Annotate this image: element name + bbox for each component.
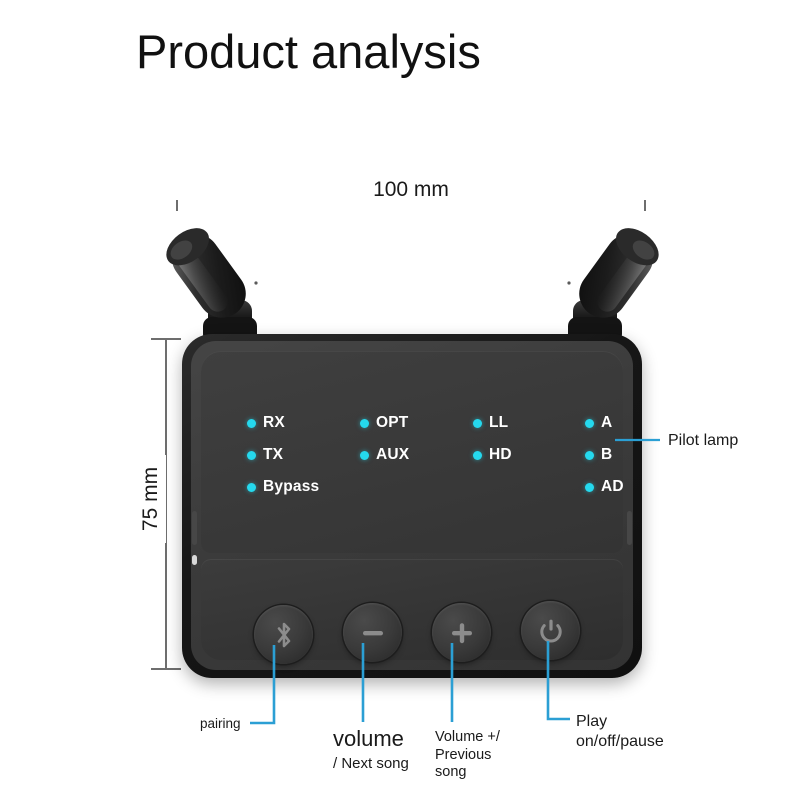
- callout-volume-line2: / Next song: [333, 755, 409, 773]
- led-grid: RX OPT LL A: [247, 407, 603, 503]
- led-label-rx: RX: [263, 414, 285, 432]
- led-hd: HD: [473, 446, 585, 464]
- device-body: RX OPT LL A: [182, 334, 642, 678]
- side-port-right: [627, 511, 632, 545]
- page-title: Product analysis: [136, 24, 481, 79]
- led-dot-ad: [585, 483, 594, 492]
- callout-pilot-lamp: Pilot lamp: [668, 431, 738, 451]
- led-label-ll: LL: [489, 414, 508, 432]
- led-dot-ll: [473, 419, 482, 428]
- led-tx: TX: [247, 446, 360, 464]
- led-label-hd: HD: [489, 446, 512, 464]
- led-label-ad: AD: [601, 478, 624, 496]
- led-label-bypass: Bypass: [263, 478, 319, 496]
- led-dot-tx: [247, 451, 256, 460]
- led-ll: LL: [473, 414, 585, 432]
- led-aux: AUX: [360, 446, 473, 464]
- led-rx: RX: [247, 414, 360, 432]
- volume-down-button[interactable]: [343, 603, 402, 662]
- callout-pilot-lamp-text: Pilot lamp: [668, 431, 738, 451]
- dimension-height-label-wrap: 75 mm: [136, 429, 166, 569]
- led-label-opt: OPT: [376, 414, 408, 432]
- led-label-aux: AUX: [376, 446, 409, 464]
- plus-icon: [447, 618, 477, 648]
- led-opt: OPT: [360, 414, 473, 432]
- led-dot-aux: [360, 451, 369, 460]
- led-label-a: A: [601, 414, 612, 432]
- callout-pairing: pairing: [200, 716, 241, 732]
- callout-volume-plus-line1: Volume +/: [435, 729, 515, 747]
- antenna-left: [160, 205, 290, 355]
- callout-volume-plus: Volume +/ Previous song: [435, 729, 515, 782]
- callout-volume: volume / Next song: [333, 726, 409, 773]
- callout-play-line2: on/off/pause: [576, 732, 726, 752]
- led-indicator-panel: RX OPT LL A: [201, 351, 623, 553]
- led-label-b: B: [601, 446, 612, 464]
- led-dot-rx: [247, 419, 256, 428]
- volume-up-button[interactable]: [432, 603, 491, 662]
- side-port-left: [192, 511, 197, 545]
- led-b: B: [585, 446, 624, 464]
- product-analysis-diagram: Product analysis 100 mm 75 mm: [0, 0, 800, 800]
- callout-pairing-text: pairing: [200, 716, 241, 732]
- dimension-height-tick-bottom: [151, 668, 181, 670]
- antenna-right: [535, 205, 665, 355]
- callout-play-line1: Play: [576, 712, 726, 732]
- led-dot-a: [585, 419, 594, 428]
- callout-volume-plus-line3: song: [435, 764, 515, 782]
- led-label-tx: TX: [263, 446, 283, 464]
- led-dot-opt: [360, 419, 369, 428]
- led-dot-b: [585, 451, 594, 460]
- button-row: [201, 597, 623, 677]
- bluetooth-icon: [271, 620, 297, 650]
- power-icon: [537, 617, 565, 645]
- power-button[interactable]: [521, 601, 580, 660]
- led-bypass: Bypass: [247, 478, 360, 496]
- dimension-width-label: 100 mm: [359, 178, 463, 202]
- callout-volume-plus-line2: Previous: [435, 747, 515, 765]
- dimension-height: 75 mm: [128, 338, 180, 672]
- dimension-height-label: 75 mm: [136, 455, 166, 543]
- button-panel: [201, 559, 623, 660]
- device-face: RX OPT LL A: [191, 341, 633, 670]
- pairing-button[interactable]: [254, 605, 313, 664]
- led-dot-hd: [473, 451, 482, 460]
- callout-play: Play on/off/pause: [576, 712, 726, 751]
- led-dot-bypass: [247, 483, 256, 492]
- led-ad: AD: [585, 478, 624, 496]
- dimension-width-label-wrap: 100 mm: [176, 176, 646, 200]
- minus-icon: [358, 618, 388, 648]
- callout-volume-line1: volume: [333, 726, 409, 753]
- led-a: A: [585, 414, 624, 432]
- side-marker-left: [192, 555, 197, 565]
